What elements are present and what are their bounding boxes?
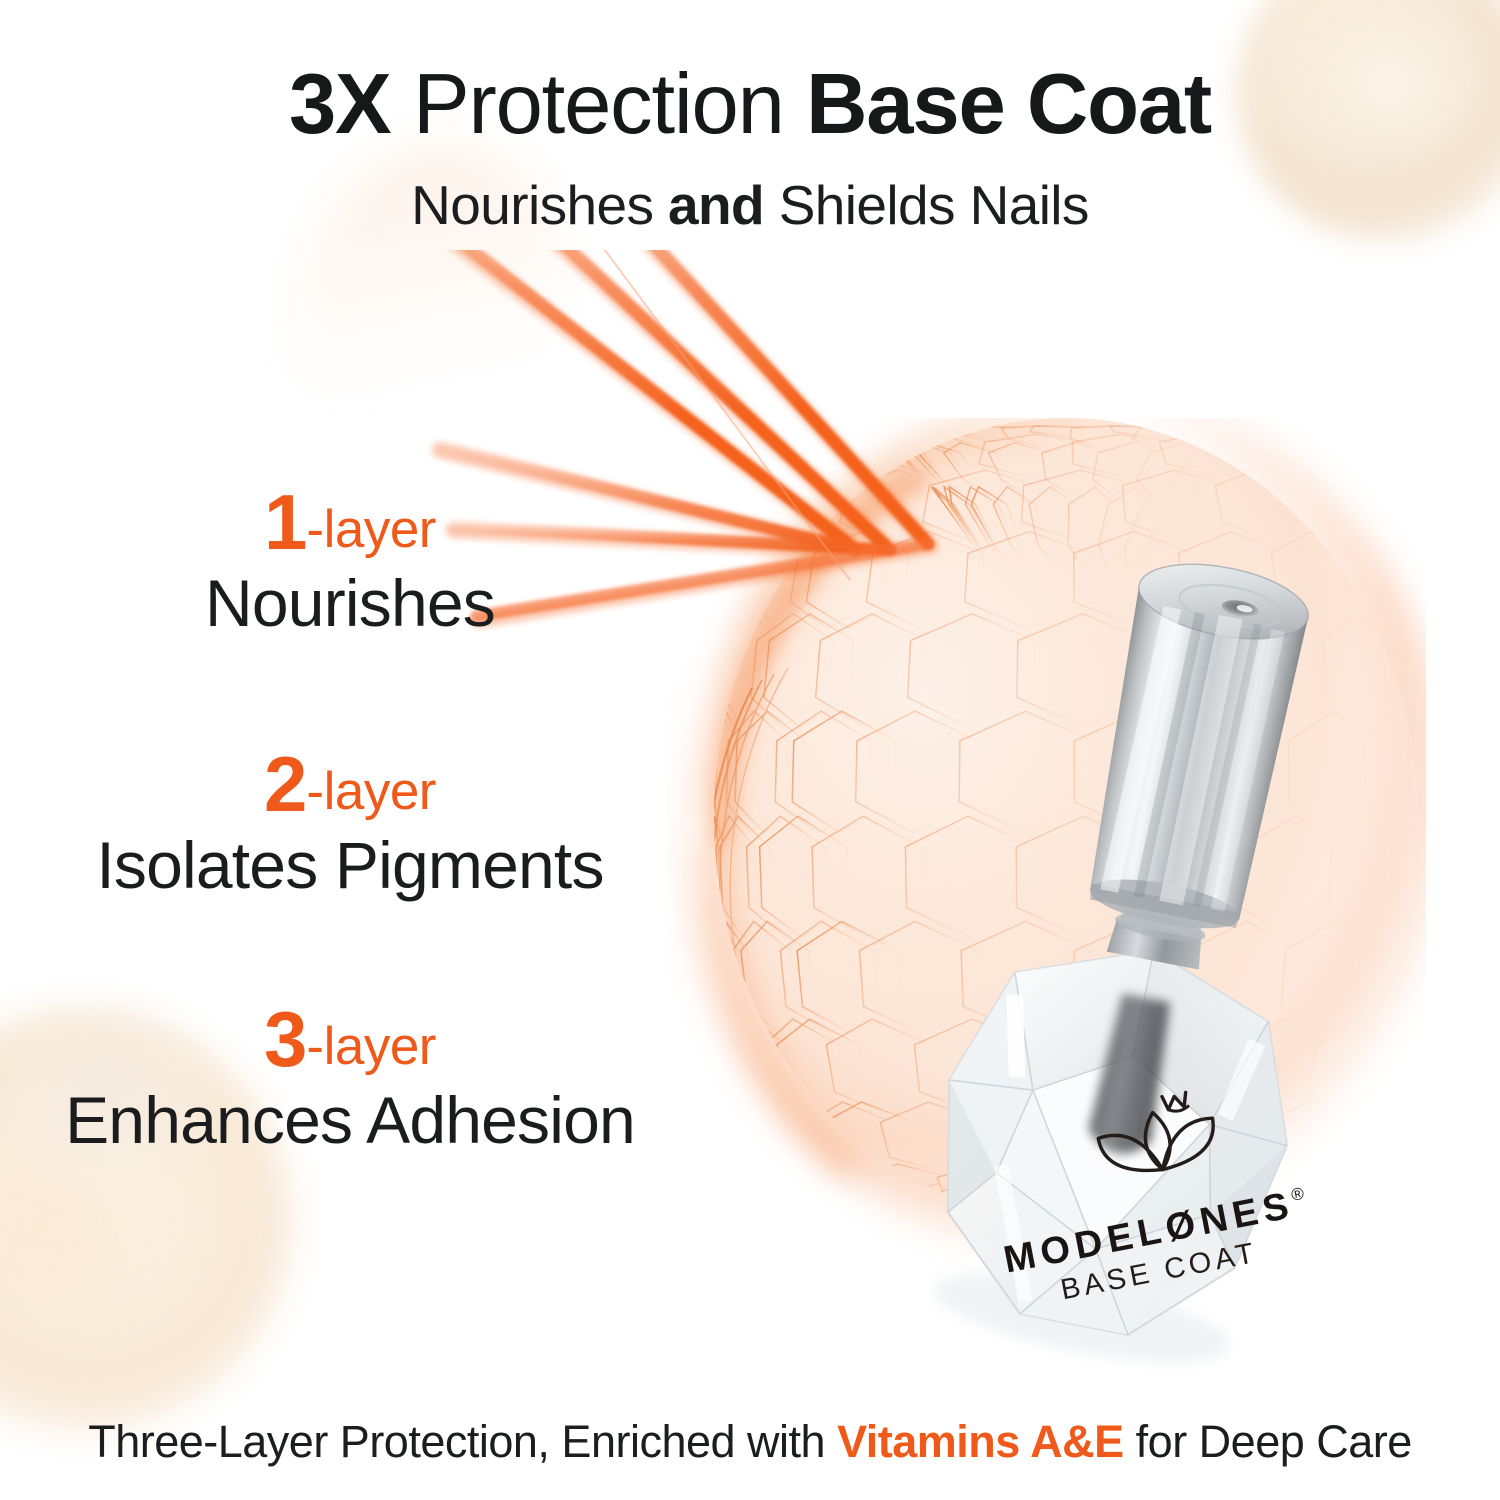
feature-1-title: Nourishes (0, 569, 700, 638)
crown-trinity-leaf-logo (1068, 1065, 1248, 1221)
feature-2-title: Isolates Pigments (0, 831, 700, 900)
product-type-label: BASE COAT (1009, 1229, 1309, 1315)
bokeh-blur-faint-top (255, 108, 604, 502)
feature-3-layer-label: -layer (306, 1017, 436, 1076)
feature-2-layer-label: -layer (306, 762, 436, 821)
footer-tagline: Three-Layer Protection, Enriched with Vi… (0, 1419, 1500, 1464)
bottle-brand-label: MODELØNES® BASE COAT (1001, 1185, 1310, 1315)
page-title: 3X Protection Base Coat (0, 62, 1500, 147)
headline-part-base-coat: Base Coat (806, 57, 1211, 152)
subtitle-part-nourishes: Nourishes (411, 174, 668, 236)
headline-part-3x: 3X (289, 57, 391, 152)
registered-trademark-mark: ® (1290, 1184, 1306, 1205)
feature-1-layer-label: -layer (306, 500, 436, 559)
headline-part-protection: Protection (391, 57, 807, 152)
tagline-part-3: for Deep Care (1124, 1416, 1412, 1467)
feature-item-2: 2-layer Isolates Pigments (0, 745, 700, 900)
feature-item-3: 3-layer Enhances Adhesion (0, 1000, 700, 1155)
feature-3-layer-line: 3-layer (0, 1000, 700, 1078)
feature-3-number: 3 (264, 995, 306, 1083)
feature-2-layer-line: 2-layer (0, 745, 700, 823)
bokeh-blur-bottom-left-inner (0, 1130, 190, 1350)
tagline-part-vitamins: Vitamins A&E (837, 1416, 1124, 1467)
brand-name: MODELØNES® (1001, 1185, 1303, 1280)
feature-1-layer-line: 1-layer (0, 483, 700, 561)
honeycomb-shield-graphic (666, 418, 1426, 1318)
product-feature-graphic: MODELØNES® BASE COAT 3X Protection Base … (0, 0, 1500, 1500)
feature-item-1: 1-layer Nourishes (0, 483, 700, 638)
tagline-part-1: Three-Layer Protection, Enriched with (88, 1416, 837, 1467)
feature-3-title: Enhances Adhesion (0, 1086, 700, 1155)
nail-polish-bottle (900, 500, 1420, 1420)
subtitle-part-and: and (668, 174, 764, 236)
feature-1-number: 1 (264, 478, 306, 566)
feature-2-number: 2 (264, 740, 306, 828)
subtitle-part-shields-nails: Shields Nails (764, 174, 1089, 236)
page-subtitle: Nourishes and Shields Nails (0, 178, 1500, 233)
